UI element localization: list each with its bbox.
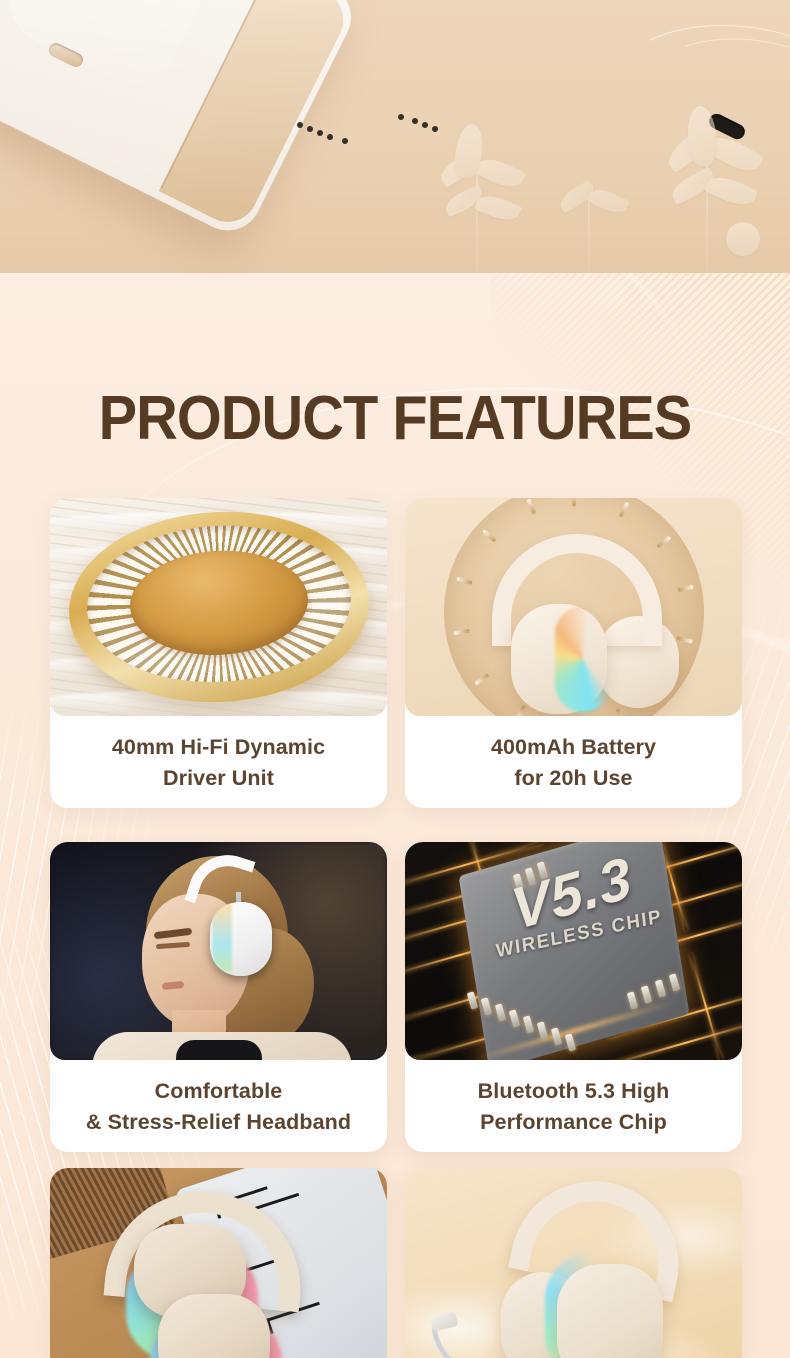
headphones-circle-image: [405, 498, 742, 716]
caption-line-1: 400mAh Battery: [491, 735, 656, 759]
product-features-page: PRODUCT FEATURES: [0, 0, 790, 1358]
rgb-light-ring: [555, 606, 611, 712]
preview-card-desk[interactable]: [50, 1168, 387, 1358]
feature-card-headband[interactable]: Comfortable & Stress-Relief Headband: [50, 842, 387, 1152]
feature-caption: 40mm Hi-Fi Dynamic Driver Unit: [50, 716, 387, 793]
headphone-cup-near: [557, 1264, 663, 1358]
caption-line-1: Comfortable: [155, 1079, 283, 1103]
headphones-on-desk-image: [50, 1168, 387, 1358]
woman-wearing-headphones-image: [50, 842, 387, 1060]
caption-line-2: Performance Chip: [415, 1107, 732, 1138]
features-row-partial: [50, 1168, 742, 1358]
hero-banner: [0, 0, 790, 273]
page-title: PRODUCT FEATURES: [28, 383, 763, 454]
feature-caption: Bluetooth 5.3 High Performance Chip: [405, 1060, 742, 1137]
preview-card-mic[interactable]: [405, 1168, 742, 1358]
speaker-driver-image: [50, 498, 387, 716]
bluetooth-chip-image: V5.3 WIRELESS CHIP: [405, 842, 742, 1060]
features-row: 40mm Hi-Fi Dynamic Driver Unit: [50, 498, 742, 825]
feature-card-driver[interactable]: 40mm Hi-Fi Dynamic Driver Unit: [50, 498, 387, 808]
caption-line-2: for 20h Use: [415, 763, 732, 794]
chip-package: [458, 842, 689, 1060]
features-row: Comfortable & Stress-Relief Headband: [50, 825, 742, 1152]
feature-caption: 400mAh Battery for 20h Use: [405, 716, 742, 793]
headphone-cup-bottom: [158, 1294, 270, 1358]
caption-line-1: 40mm Hi-Fi Dynamic: [112, 735, 325, 759]
features-grid: 40mm Hi-Fi Dynamic Driver Unit: [50, 498, 742, 1358]
feature-card-battery[interactable]: 400mAh Battery for 20h Use: [405, 498, 742, 808]
caption-line-2: & Stress-Relief Headband: [60, 1107, 377, 1138]
caption-line-2: Driver Unit: [60, 763, 377, 794]
feature-caption: Comfortable & Stress-Relief Headband: [50, 1060, 387, 1137]
inner-top: [176, 1040, 262, 1060]
features-section: PRODUCT FEATURES: [0, 273, 790, 1358]
caption-line-1: Bluetooth 5.3 High: [478, 1079, 670, 1103]
headphones-with-mic-image: [405, 1168, 742, 1358]
feature-card-chip[interactable]: V5.3 WIRELESS CHIP Bluetooth 5.3 High Pe…: [405, 842, 742, 1152]
rgb-light-ring: [212, 904, 232, 972]
